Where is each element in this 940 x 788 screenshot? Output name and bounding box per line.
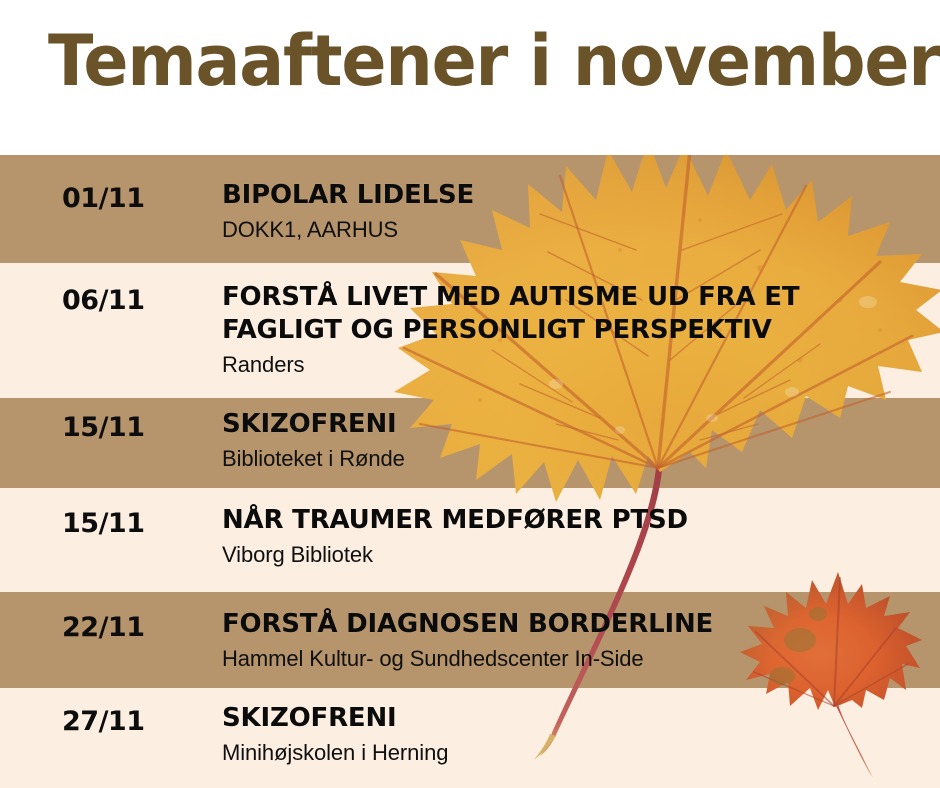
event-title: SKIZOFRENI [222,408,922,441]
event-venue: Hammel Kultur- og Sundhedscenter In-Side [222,645,922,674]
event-venue: Biblioteket i Rønde [222,445,922,474]
event-title: FORSTÅ DIAGNOSEN BORDERLINE [222,608,922,641]
event-body: NÅR TRAUMER MEDFØRER PTSD Viborg Bibliot… [222,504,922,570]
event-row: 15/11 SKIZOFRENI Biblioteket i Rønde [0,398,940,488]
event-row: 27/11 SKIZOFRENI Minihøjskolen i Herning [0,688,940,788]
event-body: SKIZOFRENI Minihøjskolen i Herning [222,702,922,768]
event-venue: DOKK1, AARHUS [222,216,922,245]
poster-header: Temaaftener i november [0,0,940,155]
event-title: FORSTÅ LIVET MED AUTISME UD FRA ET FAGLI… [222,281,922,347]
event-row: 06/11 FORSTÅ LIVET MED AUTISME UD FRA ET… [0,263,940,398]
event-date: 15/11 [62,508,145,539]
event-title: NÅR TRAUMER MEDFØRER PTSD [222,504,922,537]
event-body: SKIZOFRENI Biblioteket i Rønde [222,408,922,474]
event-venue: Viborg Bibliotek [222,541,922,570]
event-body: FORSTÅ LIVET MED AUTISME UD FRA ET FAGLI… [222,281,922,380]
event-row: 01/11 BIPOLAR LIDELSE DOKK1, AARHUS [0,155,940,263]
event-date: 15/11 [62,412,145,443]
page-title: Temaaftener i november [48,26,940,96]
event-title: SKIZOFRENI [222,702,922,735]
event-date: 01/11 [62,183,145,214]
event-date: 06/11 [62,285,145,316]
event-body: BIPOLAR LIDELSE DOKK1, AARHUS [222,179,922,245]
event-title: BIPOLAR LIDELSE [222,179,922,212]
event-venue: Randers [222,351,922,380]
poster-canvas: Temaaftener i november 01/11 BIPOLAR LID… [0,0,940,788]
event-body: FORSTÅ DIAGNOSEN BORDERLINE Hammel Kultu… [222,608,922,674]
event-date: 22/11 [62,612,145,643]
event-date: 27/11 [62,706,145,737]
event-row: 15/11 NÅR TRAUMER MEDFØRER PTSD Viborg B… [0,488,940,592]
event-venue: Minihøjskolen i Herning [222,739,922,768]
event-row: 22/11 FORSTÅ DIAGNOSEN BORDERLINE Hammel… [0,592,940,688]
